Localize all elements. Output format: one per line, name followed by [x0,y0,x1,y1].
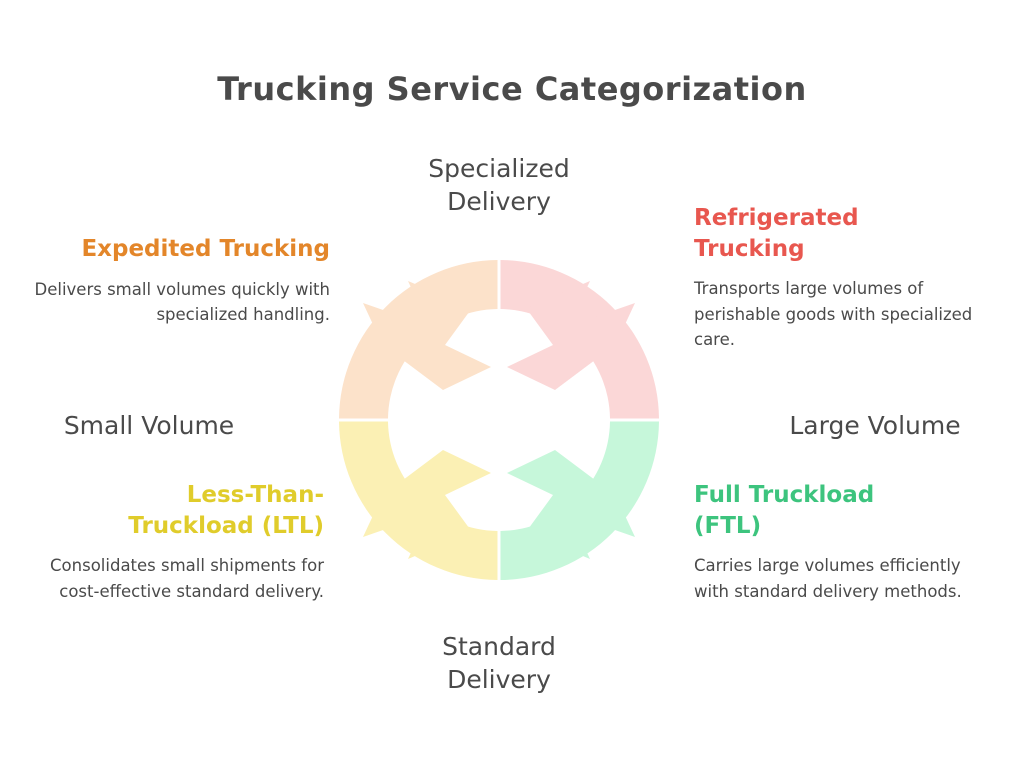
axis-label-bottom: Standard Delivery [349,630,649,697]
quadrant-expedited: Expedited Trucking Delivers small volume… [24,234,330,328]
quadrant-ltl: Less-Than- Truckload (LTL) Consolidates … [24,480,324,604]
quadrant-ftl: Full Truckload (FTL) Carries large volum… [694,480,994,604]
arc-segment-expedited [339,260,498,419]
page-title: Trucking Service Categorization [0,70,1024,108]
quadrant-body-expedited: Delivers small volumes quickly with spec… [24,277,330,328]
quadrant-body-ltl: Consolidates small shipments for cost-ef… [24,553,324,604]
quadrant-refrigerated: Refrigerated Trucking Transports large v… [694,203,994,353]
axis-label-top: Specialized Delivery [349,152,649,219]
quadrant-heading-ftl: Full Truckload (FTL) [694,480,994,541]
arc-segment-refrigerated [501,260,660,419]
quadrant-body-ftl: Carries large volumes efficiently with s… [694,553,994,604]
arc-segment-ftl [501,422,660,581]
quadrant-heading-ltl: Less-Than- Truckload (LTL) [24,480,324,541]
slide-canvas: Trucking Service Categorization Speciali… [0,0,1024,760]
quadrant-heading-expedited: Expedited Trucking [24,234,330,265]
cyclical-arrow-ring-diagram [339,260,659,580]
quadrant-heading-refrigerated: Refrigerated Trucking [694,203,994,264]
quadrant-body-refrigerated: Transports large volumes of perishable g… [694,276,994,353]
axis-label-left: Small Volume [0,409,298,442]
axis-label-right: Large Volume [726,409,1024,442]
arc-segment-ltl [339,422,498,581]
